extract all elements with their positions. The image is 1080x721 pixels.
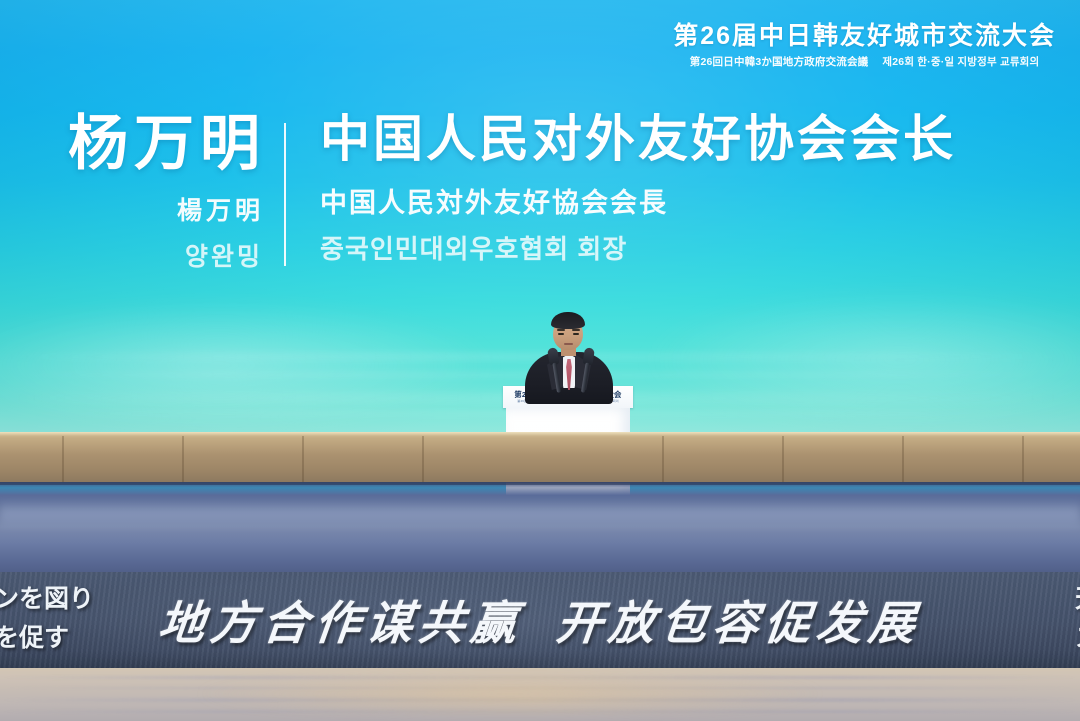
speaker-nameplate: 杨万明 楊万明 양완밍 中国人民对外友好协会会长 中国人民対外友好協会会長 중국… — [62, 112, 956, 273]
microphone-left — [550, 348, 554, 349]
wood-panel-seam — [302, 434, 304, 482]
event-title-lockup: 第26届中日韩友好城市交流大会 第26回日中韓3か国地方政府交流会議 제26회 … — [673, 24, 1056, 68]
banner-side-right-line1: 天 — [1075, 580, 1080, 619]
event-subtitle-row: 第26回日中韓3か国地方政府交流会議 제26회 한·중·일 지방정부 교류회의 — [673, 57, 1056, 68]
banner-slogan-first: 地方合作谋共赢 — [156, 587, 527, 653]
event-title-chinese: 第26届中日韩友好城市交流大会 — [673, 24, 1056, 49]
floor-marble-streak — [0, 687, 1080, 689]
speaker-title-korean: 중국인민대외우호협회 회장 — [320, 229, 956, 266]
floor-marble-streak — [0, 710, 1080, 713]
foreground-venue-floor — [0, 668, 1080, 721]
banner-slogan-second: 开放包容促发展 — [554, 587, 925, 653]
wood-panel-seam — [902, 434, 904, 482]
conference-stage-photo: 第26届中日韩友好城市交流大会 第26回日中韓3か国地方政府交流会議 제26회 … — [0, 0, 1080, 721]
speaker-hair — [551, 312, 585, 329]
stage-wood-trim-band — [0, 432, 1080, 482]
wood-panel-seam — [782, 434, 784, 482]
banner-side-text-right-korean: 天 ス — [1075, 580, 1080, 658]
speaker-name-group: 杨万明 楊万明 양완밍 — [62, 112, 284, 273]
speaker-title-japanese: 中国人民対外友好協会会長 — [320, 181, 956, 220]
wood-panel-seam — [182, 434, 184, 482]
speaker-title-group: 中国人民对外友好协会会长 中国人民対外友好協会会長 중국인민대외우호협회 회장 — [286, 112, 956, 266]
wood-panel-seam — [62, 434, 64, 482]
banner-side-right-line2: ス — [1075, 619, 1080, 658]
speaker-eyebrow-left — [557, 329, 565, 331]
wood-panel-seam — [662, 434, 664, 482]
floor-marble-streak — [0, 676, 1080, 679]
stage-front-slogan-banner: ンを図り を促す 地方合作谋共赢 开放包容促发展 天 ス — [0, 572, 1080, 668]
stage-floor-reflection — [0, 500, 1080, 530]
microphone-right — [588, 348, 592, 349]
speaker-title-chinese: 中国人民对外友好协会会长 — [320, 112, 956, 167]
wood-panel-seam — [422, 434, 424, 482]
speaker-person — [519, 310, 619, 400]
wood-panel-seam — [1022, 434, 1024, 482]
event-title-korean: 제26회 한·중·일 지방정부 교류회의 — [882, 57, 1039, 68]
event-title-japanese: 第26回日中韓3か国地方政府交流会議 — [690, 57, 869, 68]
speaker-name-japanese: 楊万明 — [62, 191, 264, 227]
banner-main-slogan-row: 地方合作谋共赢 开放包容促发展 — [0, 572, 1080, 668]
floor-marble-streak — [0, 698, 1080, 702]
stage-wood-top-edge — [0, 432, 1080, 436]
stage-floor-front-edge — [0, 482, 1080, 485]
speaker-eyebrow-right — [572, 329, 580, 331]
speaker-name-korean: 양완밍 — [62, 237, 263, 273]
speaker-name-chinese: 杨万明 — [62, 112, 266, 177]
